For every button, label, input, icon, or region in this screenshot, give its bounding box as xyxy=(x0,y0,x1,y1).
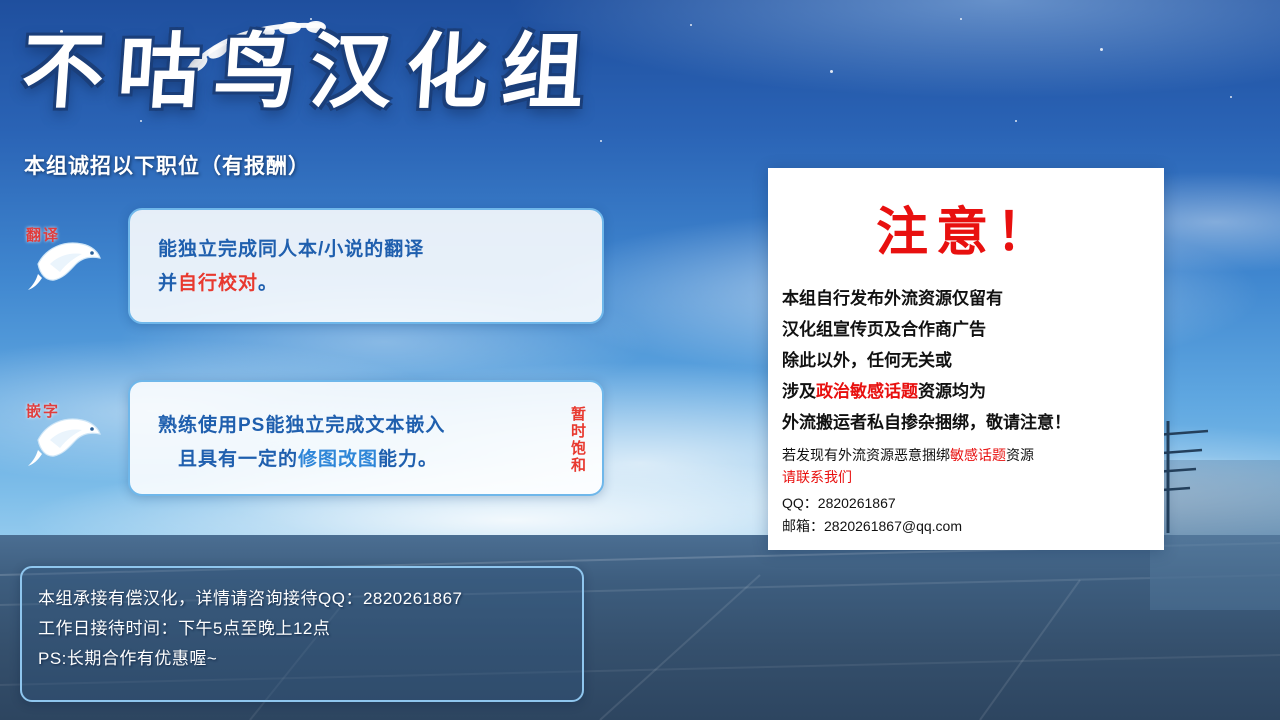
title-block: 不咕鸟汉化组 xyxy=(22,14,762,139)
notice-subnote: 若发现有外流资源恶意捆绑敏感话题资源 请联系我们 xyxy=(782,444,1164,488)
role-line-1-text: 熟练使用PS能独立完成文本嵌入 xyxy=(158,415,445,436)
notice-contact: QQ：2820261867 邮箱：2820261867@qq.com xyxy=(782,492,1164,538)
role-line-2-pre: 并 xyxy=(158,273,178,294)
poster-root: 不咕鸟汉化组 本组诚招以下职位（有报酬） 翻译 能独立完成同人本/小说的翻译 并… xyxy=(0,0,1280,720)
role-badge-label: 嵌字 xyxy=(26,400,60,421)
role-line-2: 并自行校对。 xyxy=(158,268,278,300)
notice-body-line: 外流搬运者私自掺杂捆绑，敬请注意！ xyxy=(782,407,1164,438)
notice-body-line: 本组自行发布外流资源仅留有 xyxy=(782,283,1164,314)
footer-panel: 本组承接有偿汉化，详情请咨询接待QQ：2820261867 工作日接待时间：下午… xyxy=(20,566,584,702)
footer-line-ps: PS:长期合作有优惠喔~ xyxy=(38,644,582,674)
notice-subnote-pre: 若发现有外流资源恶意捆绑 xyxy=(782,447,950,463)
building-wall xyxy=(1150,460,1280,610)
star-icon xyxy=(1230,96,1232,98)
notice-panel: 注意！ 本组自行发布外流资源仅留有 汉化组宣传页及合作商广告 除此以外，任何无关… xyxy=(768,168,1164,550)
star-icon xyxy=(960,18,962,20)
footer-line-hours: 工作日接待时间：下午5点至晚上12点 xyxy=(38,614,582,644)
role-badge-typesetter: 嵌字 xyxy=(20,394,106,474)
role-line-2-highlight: 修图改图 xyxy=(298,449,378,470)
notice-subnote-red: 敏感话题 xyxy=(950,447,1006,463)
role-line-1: 能独立完成同人本/小说的翻译 xyxy=(158,234,424,266)
role-line-2-highlight: 自行校对 xyxy=(178,273,258,294)
role-badge-translator: 翻译 xyxy=(20,218,106,298)
footer-line-commission: 本组承接有偿汉化，详情请咨询接待QQ：2820261867 xyxy=(38,584,582,614)
notice-body: 本组自行发布外流资源仅留有 汉化组宣传页及合作商广告 除此以外，任何无关或 涉及… xyxy=(782,283,1164,438)
star-icon xyxy=(1100,48,1103,51)
notice-contact-us: 请联系我们 xyxy=(782,466,1164,488)
notice-body-line: 汉化组宣传页及合作商广告 xyxy=(782,314,1164,345)
recruit-subtitle: 本组诚招以下职位（有报酬） xyxy=(24,150,310,180)
role-line-2-tail: 。 xyxy=(258,273,278,294)
role-badge-label: 翻译 xyxy=(26,224,60,245)
notice-title: 注意！ xyxy=(768,190,1164,265)
role-line-2-pre: 且具有一定的 xyxy=(178,449,298,470)
notice-body-line-red: 政治敏感话题 xyxy=(816,382,918,401)
notice-subnote-post: 资源 xyxy=(1006,447,1034,463)
role-row-typesetter: 嵌字 熟练使用PS能独立完成文本嵌入 且具有一定的修图改图能力。 暂时饱和 xyxy=(20,380,640,510)
star-icon xyxy=(1015,120,1017,122)
notice-body-line-pre: 涉及 xyxy=(782,382,816,401)
star-icon xyxy=(600,140,602,142)
star-icon xyxy=(830,70,833,73)
notice-body-line: 除此以外，任何无关或 xyxy=(782,345,1164,376)
page-title: 不咕鸟汉化组 xyxy=(18,14,766,132)
role-banner-typesetter: 熟练使用PS能独立完成文本嵌入 且具有一定的修图改图能力。 暂时饱和 xyxy=(128,380,604,496)
role-row-translator: 翻译 能独立完成同人本/小说的翻译 并自行校对。 xyxy=(20,208,640,328)
role-line-1: 熟练使用PS能独立完成文本嵌入 xyxy=(158,410,445,442)
role-line-1-text: 能独立完成同人本/小说的翻译 xyxy=(158,239,424,260)
notice-body-line-post: 资源均为 xyxy=(918,382,986,401)
notice-body-line: 涉及政治敏感话题资源均为 xyxy=(782,376,1164,407)
notice-email: 邮箱：2820261867@qq.com xyxy=(782,515,1164,538)
role-line-2-tail: 能力。 xyxy=(378,449,438,470)
role-line-2: 且具有一定的修图改图能力。 xyxy=(178,444,438,476)
role-status-note: 暂时饱和 xyxy=(568,406,586,474)
role-banner-translator: 能独立完成同人本/小说的翻译 并自行校对。 xyxy=(128,208,604,324)
notice-qq: QQ：2820261867 xyxy=(782,492,1164,515)
